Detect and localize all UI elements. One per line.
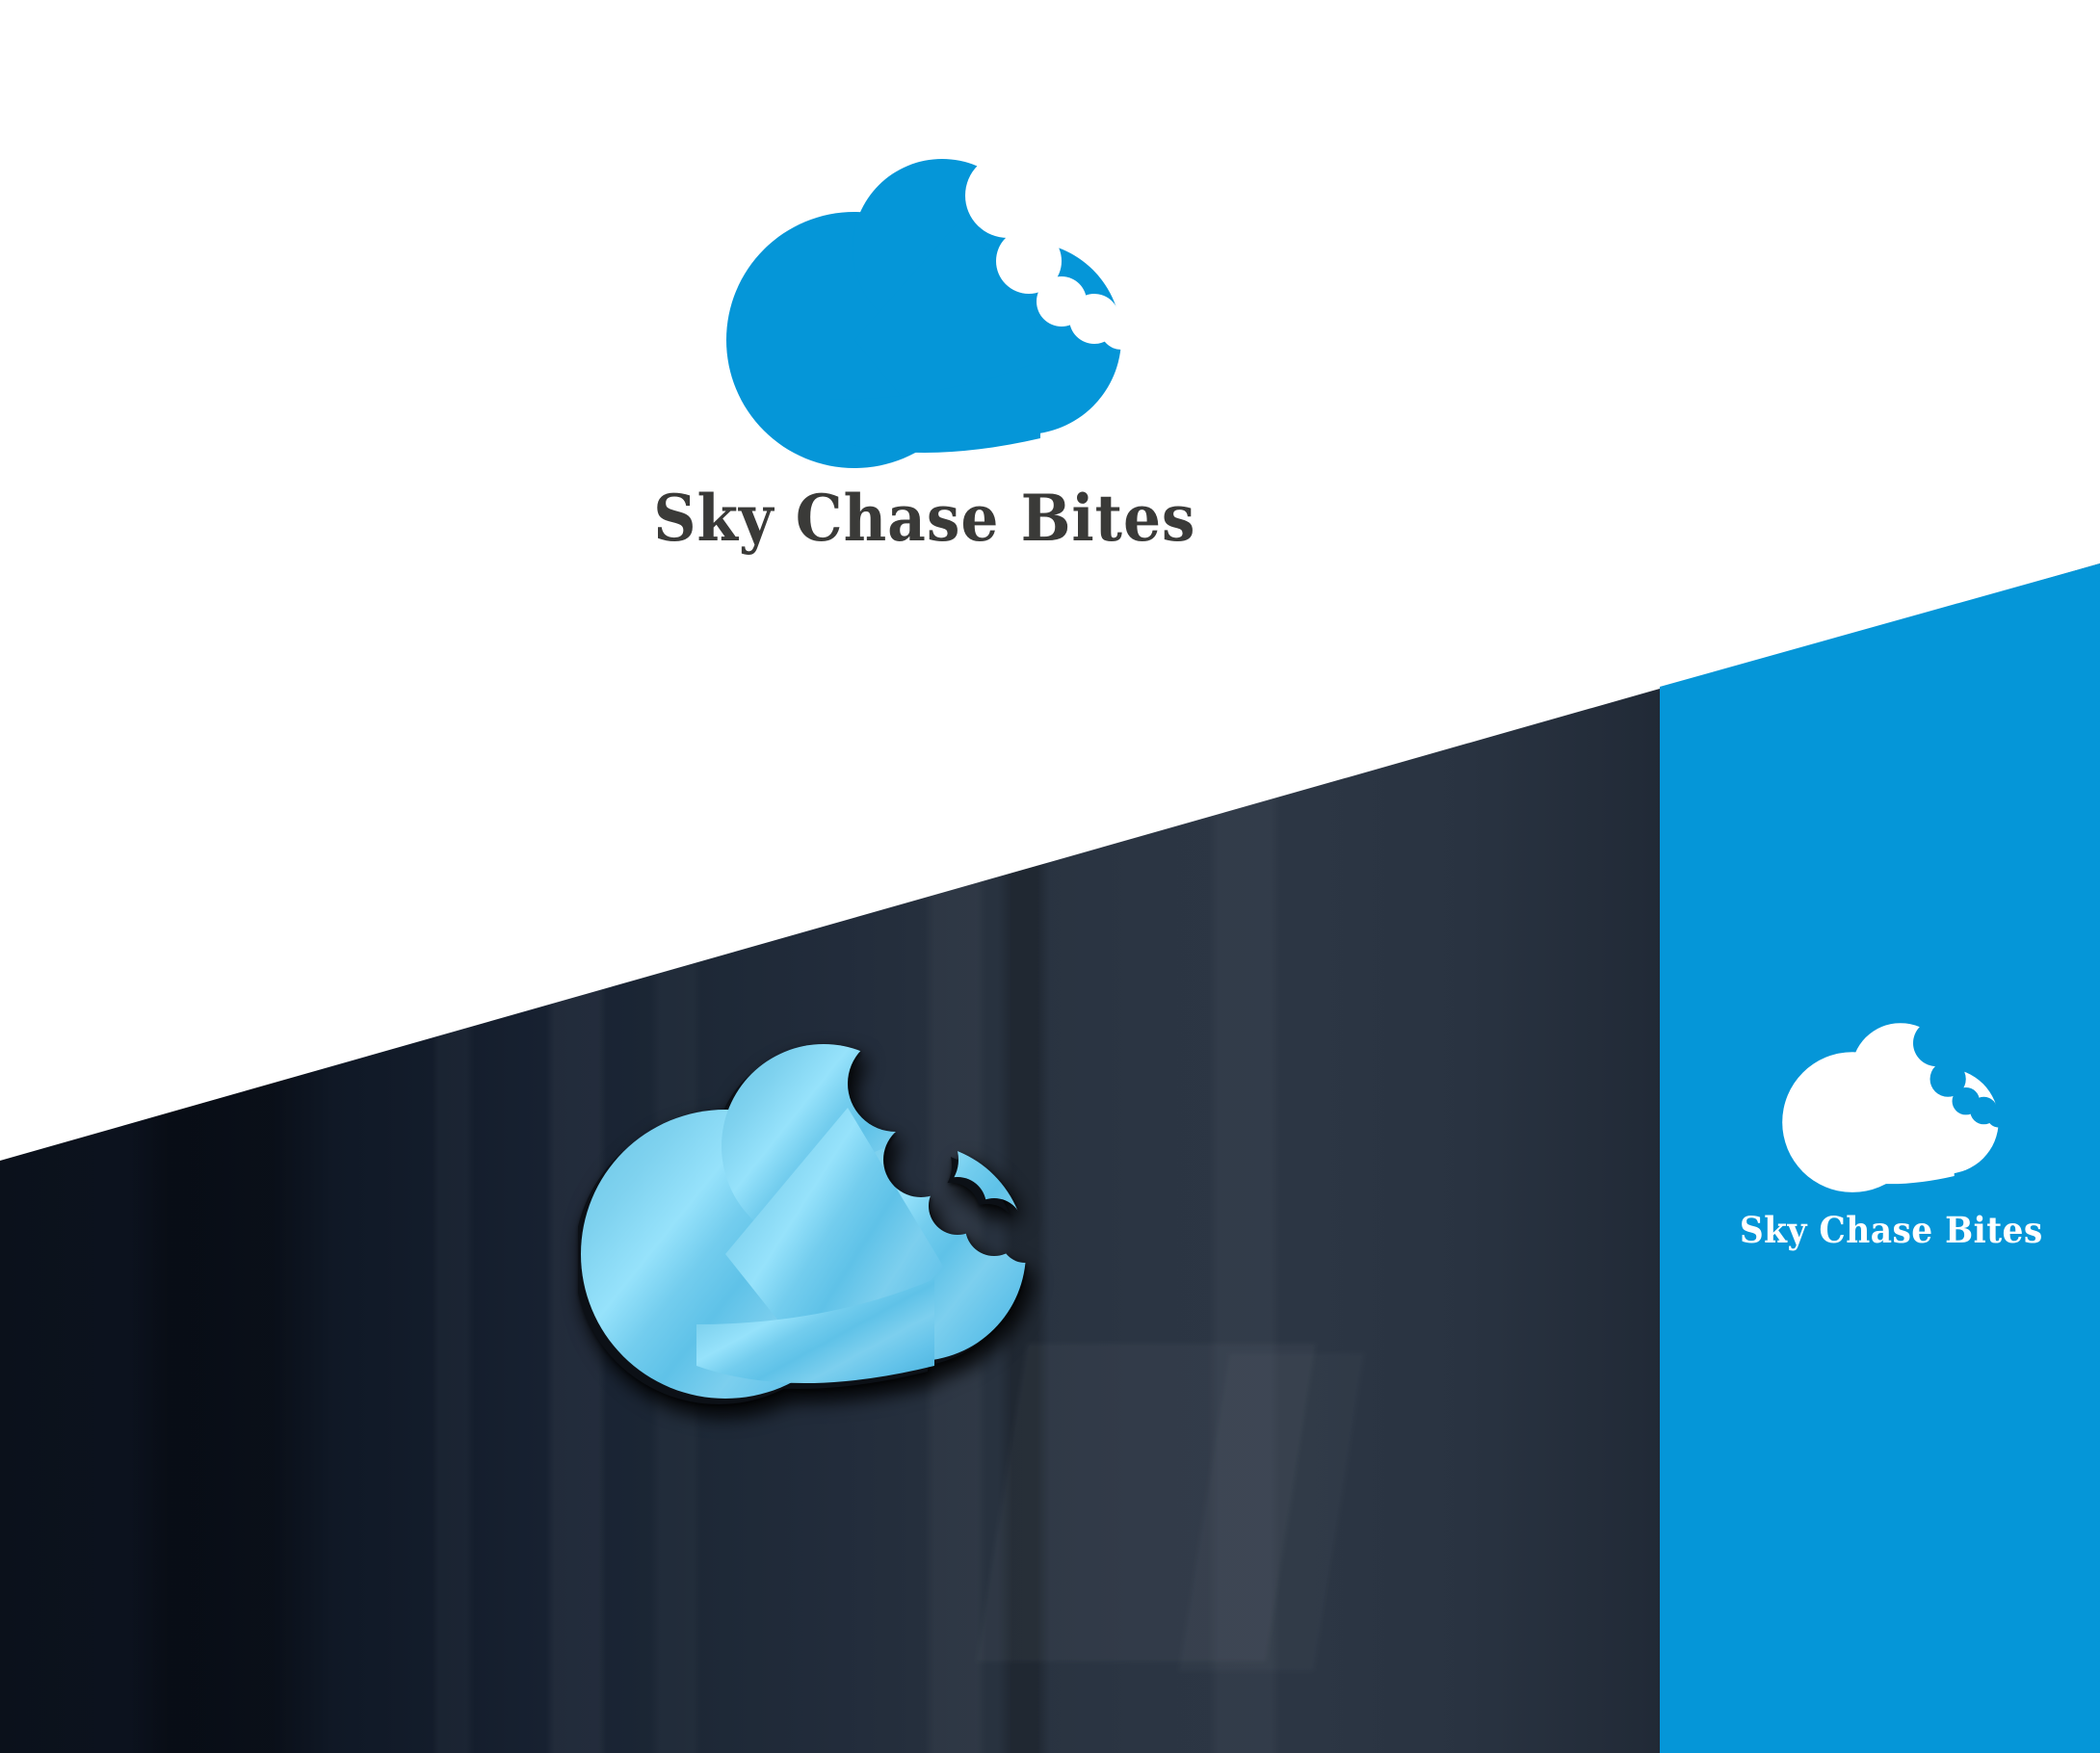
reverse-logo-lockup: Sky Chase Bites	[1698, 1021, 2084, 1348]
bitten-cloud-mark-reverse-icon	[1780, 1021, 2002, 1199]
cloud-silhouette	[726, 159, 1121, 468]
reverse-wordmark: Sky Chase Bites	[1740, 1213, 2043, 1248]
mockup-logo-lockup: Sky Chase Bites	[578, 1040, 1252, 1637]
bitten-cloud-mark-3d-icon	[578, 1040, 1031, 1416]
mark-3d-face	[581, 1044, 1026, 1399]
primary-logo-lockup: Sky Chase Bites	[588, 159, 1262, 641]
mockup-wordmark: Sky Chase Bites	[424, 1433, 1212, 1521]
primary-wordmark: Sky Chase Bites	[653, 486, 1195, 550]
bitten-cloud-mark-icon	[722, 159, 1127, 477]
cloud-silhouette-reverse	[1782, 1023, 1999, 1192]
logo-presentation-canvas: Sky Chase Bites	[0, 0, 2100, 1753]
